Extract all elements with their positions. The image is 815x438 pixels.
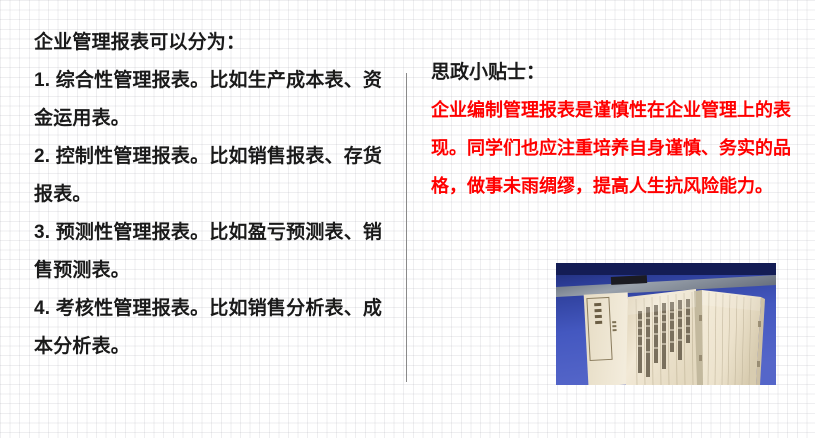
right-content-column: 思政小贴士： 企业编制管理报表是谨慎性在企业管理上的表现。同学们也应注重培养自身…	[431, 54, 799, 205]
left-content-column: 企业管理报表可以分为： 1. 综合性管理报表。比如生产成本表、资金运用表。 2.…	[34, 24, 394, 366]
report-type-item: 3. 预测性管理报表。比如盈亏预测表、销售预测表。	[34, 214, 394, 290]
old-chinese-ledger-book-photo	[556, 263, 776, 385]
report-type-item: 1. 综合性管理报表。比如生产成本表、资金运用表。	[34, 62, 394, 138]
left-column-title: 企业管理报表可以分为：	[34, 24, 394, 62]
report-type-item: 2. 控制性管理报表。比如销售报表、存货报表。	[34, 138, 394, 214]
ledger-book-illustration	[556, 263, 776, 385]
column-divider	[406, 73, 407, 382]
ideological-tip-text: 企业编制管理报表是谨慎性在企业管理上的表现。同学们也应注重培养自身谨慎、务实的品…	[431, 91, 799, 205]
slide-canvas: 企业管理报表可以分为： 1. 综合性管理报表。比如生产成本表、资金运用表。 2.…	[0, 0, 815, 438]
right-column-title: 思政小贴士：	[431, 54, 799, 91]
report-type-item: 4. 考核性管理报表。比如销售分析表、成本分析表。	[34, 290, 394, 366]
